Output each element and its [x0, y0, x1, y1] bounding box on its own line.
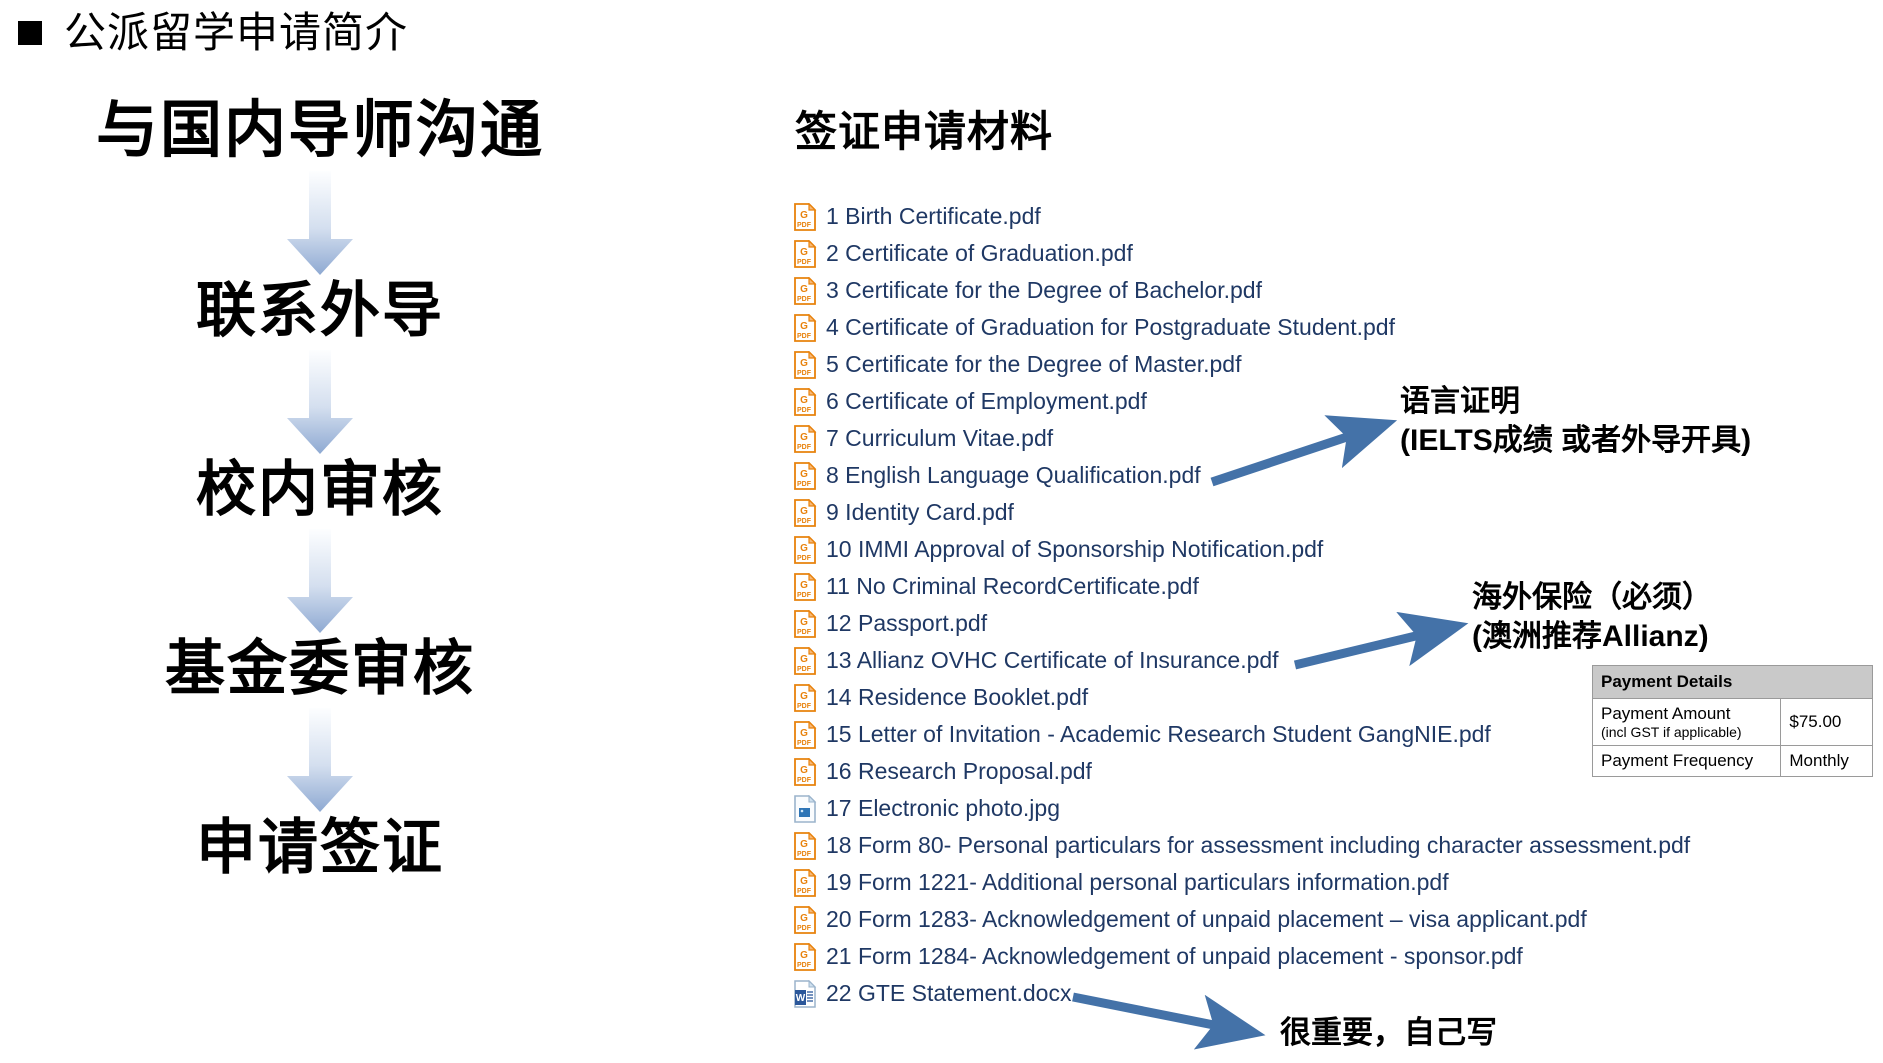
pdf-file-icon: GPDF	[793, 943, 817, 971]
pdf-file-icon: GPDF	[793, 203, 817, 231]
file-name-label: 17 Electronic photo.jpg	[826, 797, 1060, 820]
file-name-label: 2 Certificate of Graduation.pdf	[826, 242, 1133, 265]
payment-row-value: $75.00	[1781, 699, 1873, 746]
list-item[interactable]: GPDF3 Certificate for the Degree of Bach…	[793, 272, 1853, 309]
file-name-label: 3 Certificate for the Degree of Bachelor…	[826, 279, 1262, 302]
list-item[interactable]: GPDF9 Identity Card.pdf	[793, 494, 1853, 531]
svg-text:G: G	[800, 358, 808, 369]
svg-text:PDF: PDF	[797, 481, 812, 488]
down-block-arrow-icon	[283, 350, 357, 454]
svg-text:PDF: PDF	[797, 777, 812, 784]
file-name-label: 1 Birth Certificate.pdf	[826, 205, 1041, 228]
svg-text:G: G	[800, 469, 808, 480]
file-name-label: 4 Certificate of Graduation for Postgrad…	[826, 316, 1395, 339]
payment-row-sublabel: (incl GST if applicable)	[1601, 724, 1772, 740]
list-item[interactable]: GPDF19 Form 1221- Additional personal pa…	[793, 864, 1853, 901]
annotation-language-proof: 语言证明 (IELTS成绩 或者外导开具)	[1400, 382, 1751, 460]
svg-text:PDF: PDF	[797, 740, 812, 747]
annotation-important-note: 很重要，自己写	[1280, 1013, 1497, 1053]
svg-text:PDF: PDF	[797, 925, 812, 932]
file-name-label: 14 Residence Booklet.pdf	[826, 686, 1088, 709]
svg-text:G: G	[800, 654, 808, 665]
down-block-arrow-icon	[283, 171, 357, 275]
file-name-label: 6 Certificate of Employment.pdf	[826, 390, 1147, 413]
svg-text:PDF: PDF	[797, 888, 812, 895]
down-block-arrow-icon	[283, 529, 357, 633]
file-name-label: 16 Research Proposal.pdf	[826, 760, 1092, 783]
file-name-label: 20 Form 1283- Acknowledgement of unpaid …	[826, 908, 1587, 931]
flow-step-3: 校内审核	[196, 458, 444, 521]
svg-text:PDF: PDF	[797, 962, 812, 969]
file-name-label: 5 Certificate for the Degree of Master.p…	[826, 353, 1241, 376]
page-title: 公派留学申请简介	[18, 12, 408, 54]
svg-text:PDF: PDF	[797, 518, 812, 525]
pdf-file-icon: GPDF	[793, 314, 817, 342]
file-name-label: 9 Identity Card.pdf	[826, 501, 1014, 524]
svg-text:PDF: PDF	[797, 555, 812, 562]
payment-row-label: Payment Frequency	[1593, 745, 1781, 776]
file-name-label: 10 IMMI Approval of Sponsorship Notifica…	[826, 538, 1323, 561]
file-name-label: 19 Form 1221- Additional personal partic…	[826, 871, 1449, 894]
svg-text:G: G	[800, 950, 808, 961]
list-item[interactable]: GPDF8 English Language Qualification.pdf	[793, 457, 1853, 494]
table-row: Payment Amount(incl GST if applicable)$7…	[1593, 699, 1873, 746]
annotation-important-line1: 很重要，自己写	[1280, 1013, 1497, 1053]
annotation-language-line2: (IELTS成绩 或者外导开具)	[1400, 421, 1751, 460]
flow-step-5: 申请签证	[196, 816, 444, 879]
file-name-label: 15 Letter of Invitation - Academic Resea…	[826, 723, 1491, 746]
svg-text:PDF: PDF	[797, 222, 812, 229]
svg-text:G: G	[800, 506, 808, 517]
svg-text:G: G	[800, 913, 808, 924]
svg-text:PDF: PDF	[797, 851, 812, 858]
word-file-icon: W	[793, 980, 817, 1008]
list-item[interactable]: GPDF4 Certificate of Graduation for Post…	[793, 309, 1853, 346]
payment-row-label-main: Payment Amount	[1601, 704, 1730, 723]
file-name-label: 8 English Language Qualification.pdf	[826, 464, 1201, 487]
svg-text:G: G	[800, 210, 808, 221]
list-item[interactable]: 17 Electronic photo.jpg	[793, 790, 1853, 827]
svg-text:G: G	[800, 580, 808, 591]
svg-text:G: G	[800, 728, 808, 739]
list-item[interactable]: GPDF18 Form 80- Personal particulars for…	[793, 827, 1853, 864]
list-item[interactable]: GPDF21 Form 1284- Acknowledgement of unp…	[793, 938, 1853, 975]
svg-text:W: W	[796, 993, 806, 1004]
file-name-label: 22 GTE Statement.docx	[826, 982, 1071, 1005]
documents-heading: 签证申请材料	[795, 98, 1053, 159]
list-item[interactable]: GPDF20 Form 1283- Acknowledgement of unp…	[793, 901, 1853, 938]
down-block-arrow-icon	[283, 708, 357, 812]
svg-text:G: G	[800, 432, 808, 443]
payment-row-label-main: Payment Frequency	[1601, 751, 1753, 770]
pdf-file-icon: GPDF	[793, 610, 817, 638]
file-name-label: 7 Curriculum Vitae.pdf	[826, 427, 1053, 450]
list-item[interactable]: GPDF10 IMMI Approval of Sponsorship Noti…	[793, 531, 1853, 568]
payment-row-label: Payment Amount(incl GST if applicable)	[1593, 699, 1781, 746]
svg-text:PDF: PDF	[797, 259, 812, 266]
pdf-file-icon: GPDF	[793, 573, 817, 601]
file-name-label: 11 No Criminal RecordCertificate.pdf	[826, 575, 1199, 598]
annotation-insurance-line2: (澳洲推荐Allianz)	[1472, 617, 1712, 656]
pdf-file-icon: GPDF	[793, 240, 817, 268]
payment-details-table: Payment Details Payment Amount(incl GST …	[1592, 665, 1873, 777]
filled-square-bullet-icon	[18, 21, 42, 45]
flow-step-2: 联系外导	[196, 279, 444, 342]
svg-text:PDF: PDF	[797, 407, 812, 414]
svg-text:PDF: PDF	[797, 444, 812, 451]
pdf-file-icon: GPDF	[793, 499, 817, 527]
payment-details-header-row: Payment Details	[1593, 666, 1873, 699]
svg-text:PDF: PDF	[797, 370, 812, 377]
svg-text:G: G	[800, 543, 808, 554]
svg-text:PDF: PDF	[797, 592, 812, 599]
svg-text:G: G	[800, 691, 808, 702]
pdf-file-icon: GPDF	[793, 425, 817, 453]
page-title-text: 公派留学申请简介	[64, 12, 408, 54]
list-item[interactable]: GPDF2 Certificate of Graduation.pdf	[793, 235, 1853, 272]
pdf-file-icon: GPDF	[793, 869, 817, 897]
list-item[interactable]: GPDF5 Certificate for the Degree of Mast…	[793, 346, 1853, 383]
list-item[interactable]: GPDF1 Birth Certificate.pdf	[793, 198, 1853, 235]
svg-text:G: G	[800, 284, 808, 295]
svg-text:PDF: PDF	[797, 333, 812, 340]
image-file-icon	[793, 795, 817, 823]
pdf-file-icon: GPDF	[793, 388, 817, 416]
file-name-label: 12 Passport.pdf	[826, 612, 987, 635]
svg-text:G: G	[800, 839, 808, 850]
table-row: Payment FrequencyMonthly	[1593, 745, 1873, 776]
svg-text:G: G	[800, 876, 808, 887]
pdf-file-icon: GPDF	[793, 536, 817, 564]
svg-text:G: G	[800, 765, 808, 776]
pdf-file-icon: GPDF	[793, 832, 817, 860]
payment-details-header: Payment Details	[1593, 666, 1873, 699]
svg-text:PDF: PDF	[797, 703, 812, 710]
annotation-language-line1: 语言证明	[1400, 382, 1751, 421]
pdf-file-icon: GPDF	[793, 684, 817, 712]
payment-row-value: Monthly	[1781, 745, 1873, 776]
svg-text:G: G	[800, 395, 808, 406]
pdf-file-icon: GPDF	[793, 721, 817, 749]
file-name-label: 13 Allianz OVHC Certificate of Insurance…	[826, 649, 1279, 672]
pdf-file-icon: GPDF	[793, 758, 817, 786]
svg-text:G: G	[800, 617, 808, 628]
svg-text:G: G	[800, 247, 808, 258]
file-name-label: 18 Form 80- Personal particulars for ass…	[826, 834, 1690, 857]
pdf-file-icon: GPDF	[793, 351, 817, 379]
svg-text:G: G	[800, 321, 808, 332]
svg-text:PDF: PDF	[797, 629, 812, 636]
application-flow-diagram: 与国内导师沟通 联系外导 校内审核	[60, 98, 580, 879]
pdf-file-icon: GPDF	[793, 647, 817, 675]
pdf-file-icon: GPDF	[793, 277, 817, 305]
annotation-overseas-insurance: 海外保险（必须） (澳洲推荐Allianz)	[1472, 578, 1712, 656]
annotation-insurance-line1: 海外保险（必须）	[1472, 578, 1712, 617]
pdf-file-icon: GPDF	[793, 462, 817, 490]
flow-step-1: 与国内导师沟通	[96, 98, 544, 163]
list-item[interactable]: W22 GTE Statement.docx	[793, 975, 1853, 1012]
svg-text:PDF: PDF	[797, 296, 812, 303]
flow-step-4: 基金委审核	[165, 637, 475, 700]
svg-text:PDF: PDF	[797, 666, 812, 673]
file-name-label: 21 Form 1284- Acknowledgement of unpaid …	[826, 945, 1523, 968]
pdf-file-icon: GPDF	[793, 906, 817, 934]
